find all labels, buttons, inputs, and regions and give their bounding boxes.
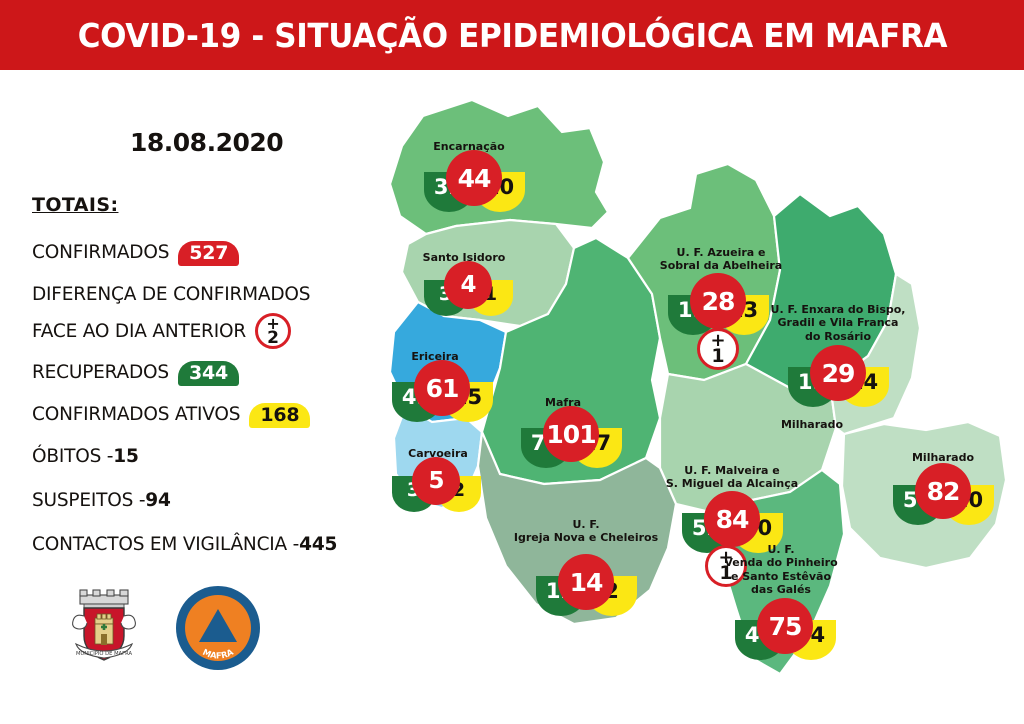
total-confirmados-row: CONFIRMADOS 527 (32, 240, 239, 265)
municipio-de-mafra-coat-of-arms: MUNICÍPIO DE MAFRA (58, 582, 150, 674)
region-badge-venda-pinheiro-santo-estevao-gales: 403475 (733, 598, 837, 660)
infographic-page: COVID-19 - SITUAÇÃO EPIDEMIOLÓGICA EM MA… (0, 0, 1024, 724)
region-badge-azueira-sobral-abelheira: 151328 (666, 273, 770, 335)
region-delta-value: 1 (711, 349, 724, 365)
region-confirmados-mafra: 101 (543, 406, 599, 462)
total-contactos-label: CONTACTOS EM VIGILÂNCIA - (32, 534, 299, 555)
region-confirmados-igreja-nova-cheleiros: 14 (558, 554, 614, 610)
region-confirmados-milharado: 82 (915, 463, 971, 519)
region-badge-milharado: 562082 (891, 463, 995, 525)
total-diferenca-line2: FACE AO DIA ANTERIOR + 2 (32, 313, 291, 349)
total-ativos-row: CONFIRMADOS ATIVOS 168 (32, 402, 310, 427)
total-diferenca-line1: DIFERENÇA DE CONFIRMADOS (32, 284, 310, 305)
region-badge-santo-isidoro: 314 (422, 261, 514, 317)
page-title: COVID-19 - SITUAÇÃO EPIDEMIOLÓGICA EM MA… (77, 16, 946, 55)
region-confirmados-encarnacao: 44 (446, 150, 502, 206)
protecao-civil-mafra-emblem: PROTEÇÃO CIVIL MAFRA (172, 582, 264, 674)
total-suspeitos-label: SUSPEITOS - (32, 490, 145, 511)
region-label-line: U. F. Enxara do Bispo, (771, 303, 906, 316)
total-recuperados-value: 344 (178, 361, 239, 386)
total-ativos-value: 168 (249, 403, 310, 428)
region-badge-encarnacao: 321044 (422, 150, 526, 212)
region-label-line: do Rosário (771, 330, 906, 343)
region-label-line: U. F. (514, 518, 658, 531)
map-extra-label-0: Milharado (781, 418, 843, 431)
region-label-line: das Galés (724, 583, 837, 596)
region-delta-azueira-sobral-abelheira: +1 (697, 328, 739, 370)
region-label-line: U. F. Malveira e (666, 464, 798, 477)
region-badge-mafra: 7127101 (519, 406, 623, 468)
region-confirmados-enxara-gradil-vila-franca: 29 (810, 345, 866, 401)
totals-heading: TOTAIS: (32, 194, 118, 216)
region-label-line: Venda do Pinheiro (724, 556, 837, 569)
region-badge-ericeira: 451561 (390, 360, 494, 422)
total-diferenca-label-line1: DIFERENÇA DE CONFIRMADOS (32, 284, 310, 305)
region-label-line: U. F. Azueira e (660, 246, 782, 259)
delta-value: 2 (267, 331, 279, 346)
region-label-igreja-nova-cheleiros: U. F.Igreja Nova e Cheleiros (514, 518, 658, 545)
total-recuperados-row: RECUPERADOS 344 (32, 360, 239, 385)
mafra-municipality-map: Encarnação321044Santo Isidoro314Ericeira… (360, 88, 1024, 712)
total-obitos-label: ÓBITOS - (32, 446, 113, 467)
region-label-line: Gradil e Vila Franca (771, 316, 906, 329)
total-obitos-row: ÓBITOS - 15 (32, 446, 139, 467)
region-label-malveira-s-miguel-alcainca: U. F. Malveira eS. Miguel da Alcainça (666, 464, 798, 491)
logos-group: MUNICÍPIO DE MAFRA PROTEÇÃO CIVIL MAFRA (58, 582, 264, 674)
summary-sidebar: 18.08.2020 TOTAIS: CONFIRMADOS 527 DIFER… (0, 70, 372, 724)
region-label-line: Sobral da Abelheira (660, 259, 782, 272)
region-badge-enxara-gradil-vila-franca: 151429 (786, 345, 890, 407)
total-contactos-row: CONTACTOS EM VIGILÂNCIA - 445 (32, 534, 337, 555)
coat-of-arms-caption: MUNICÍPIO DE MAFRA (76, 650, 133, 657)
region-badge-carvoeira: 325 (390, 457, 482, 513)
total-confirmados-value: 527 (178, 241, 239, 266)
total-contactos-value: 445 (299, 534, 337, 555)
region-label-azueira-sobral-abelheira: U. F. Azueira eSobral da Abelheira (660, 246, 782, 273)
region-confirmados-azueira-sobral-abelheira: 28 (690, 273, 746, 329)
total-obitos-value: 15 (113, 446, 138, 467)
region-confirmados-malveira-s-miguel-alcainca: 84 (704, 491, 760, 547)
total-suspeitos-value: 94 (145, 490, 170, 511)
region-confirmados-santo-isidoro: 4 (444, 261, 492, 309)
region-label-enxara-gradil-vila-franca: U. F. Enxara do Bispo,Gradil e Vila Fran… (771, 303, 906, 343)
total-ativos-label: CONFIRMADOS ATIVOS (32, 404, 240, 425)
region-badge-igreja-nova-cheleiros: 12214 (534, 554, 638, 616)
region-confirmados-ericeira: 61 (414, 360, 470, 416)
total-suspeitos-row: SUSPEITOS - 94 (32, 490, 171, 511)
region-confirmados-venda-pinheiro-santo-estevao-gales: 75 (757, 598, 813, 654)
region-label-line: Igreja Nova e Cheleiros (514, 531, 658, 544)
region-label-venda-pinheiro-santo-estevao-gales: U. F.Venda do Pinheiroe Santo Estêvãodas… (724, 543, 837, 597)
total-diferenca-badge: + 2 (255, 313, 291, 349)
region-label-line: e Santo Estêvão (724, 570, 837, 583)
region-label-line: S. Miguel da Alcainça (666, 477, 798, 490)
region-confirmados-carvoeira: 5 (412, 457, 460, 505)
total-confirmados-label: CONFIRMADOS (32, 242, 169, 263)
region-label-line: U. F. (724, 543, 837, 556)
report-date: 18.08.2020 (130, 128, 283, 157)
total-diferenca-label-line2: FACE AO DIA ANTERIOR (32, 321, 246, 342)
page-header: COVID-19 - SITUAÇÃO EPIDEMIOLÓGICA EM MA… (0, 0, 1024, 70)
total-recuperados-label: RECUPERADOS (32, 362, 169, 383)
